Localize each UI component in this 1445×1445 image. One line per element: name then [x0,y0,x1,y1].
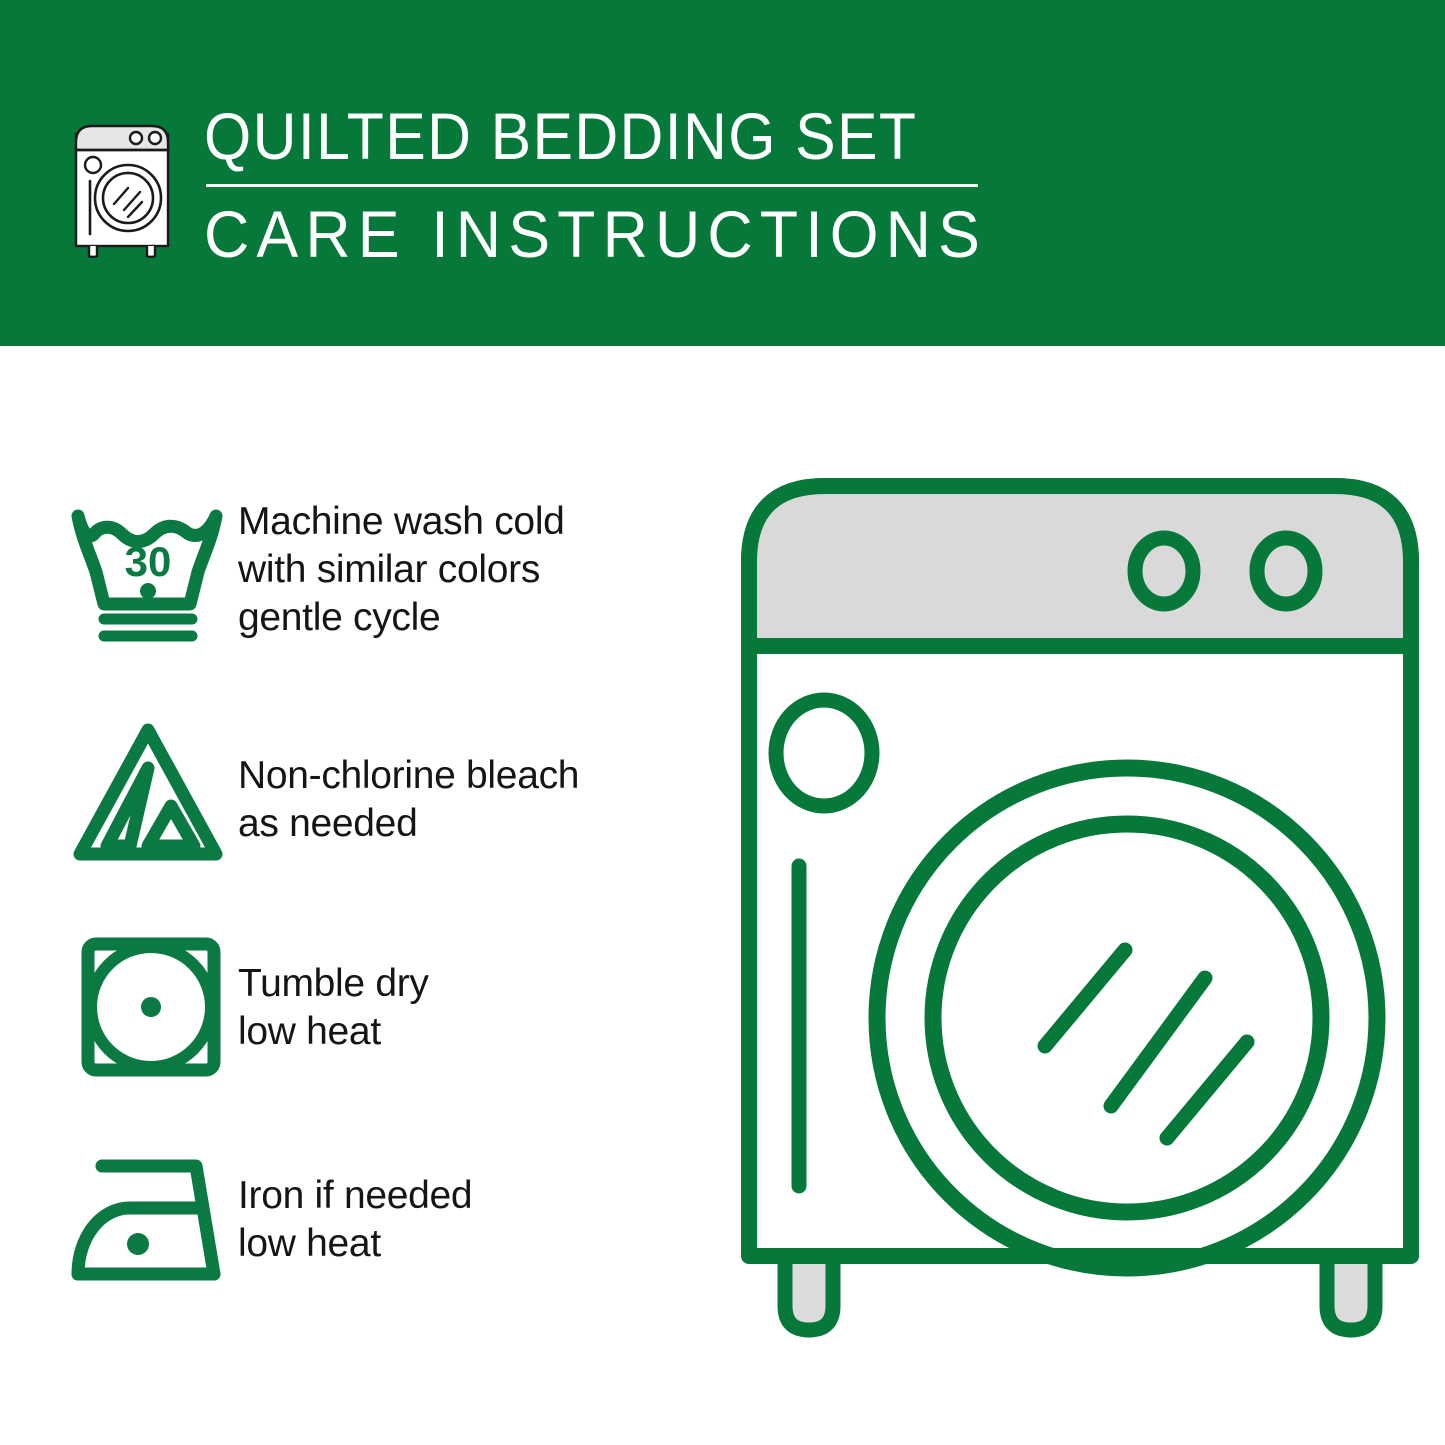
washing-machine-illustration-area [722,346,1445,1445]
washing-machine-icon [62,98,182,258]
wash-temperature-label: 30 [125,538,172,585]
care-item-machine-wash: 30 Machine wash cold with similar colors… [68,494,708,644]
title-divider [206,184,978,187]
care-item-label: Non-chlorine bleach as needed [238,716,708,848]
care-item-label: Iron if needed low heat [238,1146,708,1268]
care-item-bleach: Non-chlorine bleach as needed [68,716,708,866]
page-subtitle: CARE INSTRUCTIONS [204,197,987,271]
control-knob-1 [1135,538,1193,604]
tumble-dry-low-icon [68,932,238,1082]
wash-basin-30-icon: 30 [68,494,238,644]
care-item-label: Machine wash cold with similar colors ge… [238,494,708,642]
care-item-tumble-dry: Tumble dry low heat [68,932,708,1082]
header-content: QUILTED BEDDING SET CARE INSTRUCTIONS [62,98,1028,271]
detergent-dial [776,700,872,806]
care-instruction-list: 30 Machine wash cold with similar colors… [0,346,722,1445]
non-chlorine-bleach-triangle-icon [68,716,238,866]
care-item-label: Tumble dry low heat [238,932,708,1056]
iron-low-heat-icon [68,1146,238,1296]
control-knob-2 [1257,538,1315,604]
care-instructions-page: QUILTED BEDDING SET CARE INSTRUCTIONS [0,0,1445,1445]
care-item-iron: Iron if needed low heat [68,1146,708,1296]
page-title: QUILTED BEDDING SET [204,100,962,172]
header-title-block: QUILTED BEDDING SET CARE INSTRUCTIONS [204,98,1028,271]
front-load-washing-machine-illustration [727,466,1427,1366]
page-header: QUILTED BEDDING SET CARE INSTRUCTIONS [0,0,1445,346]
